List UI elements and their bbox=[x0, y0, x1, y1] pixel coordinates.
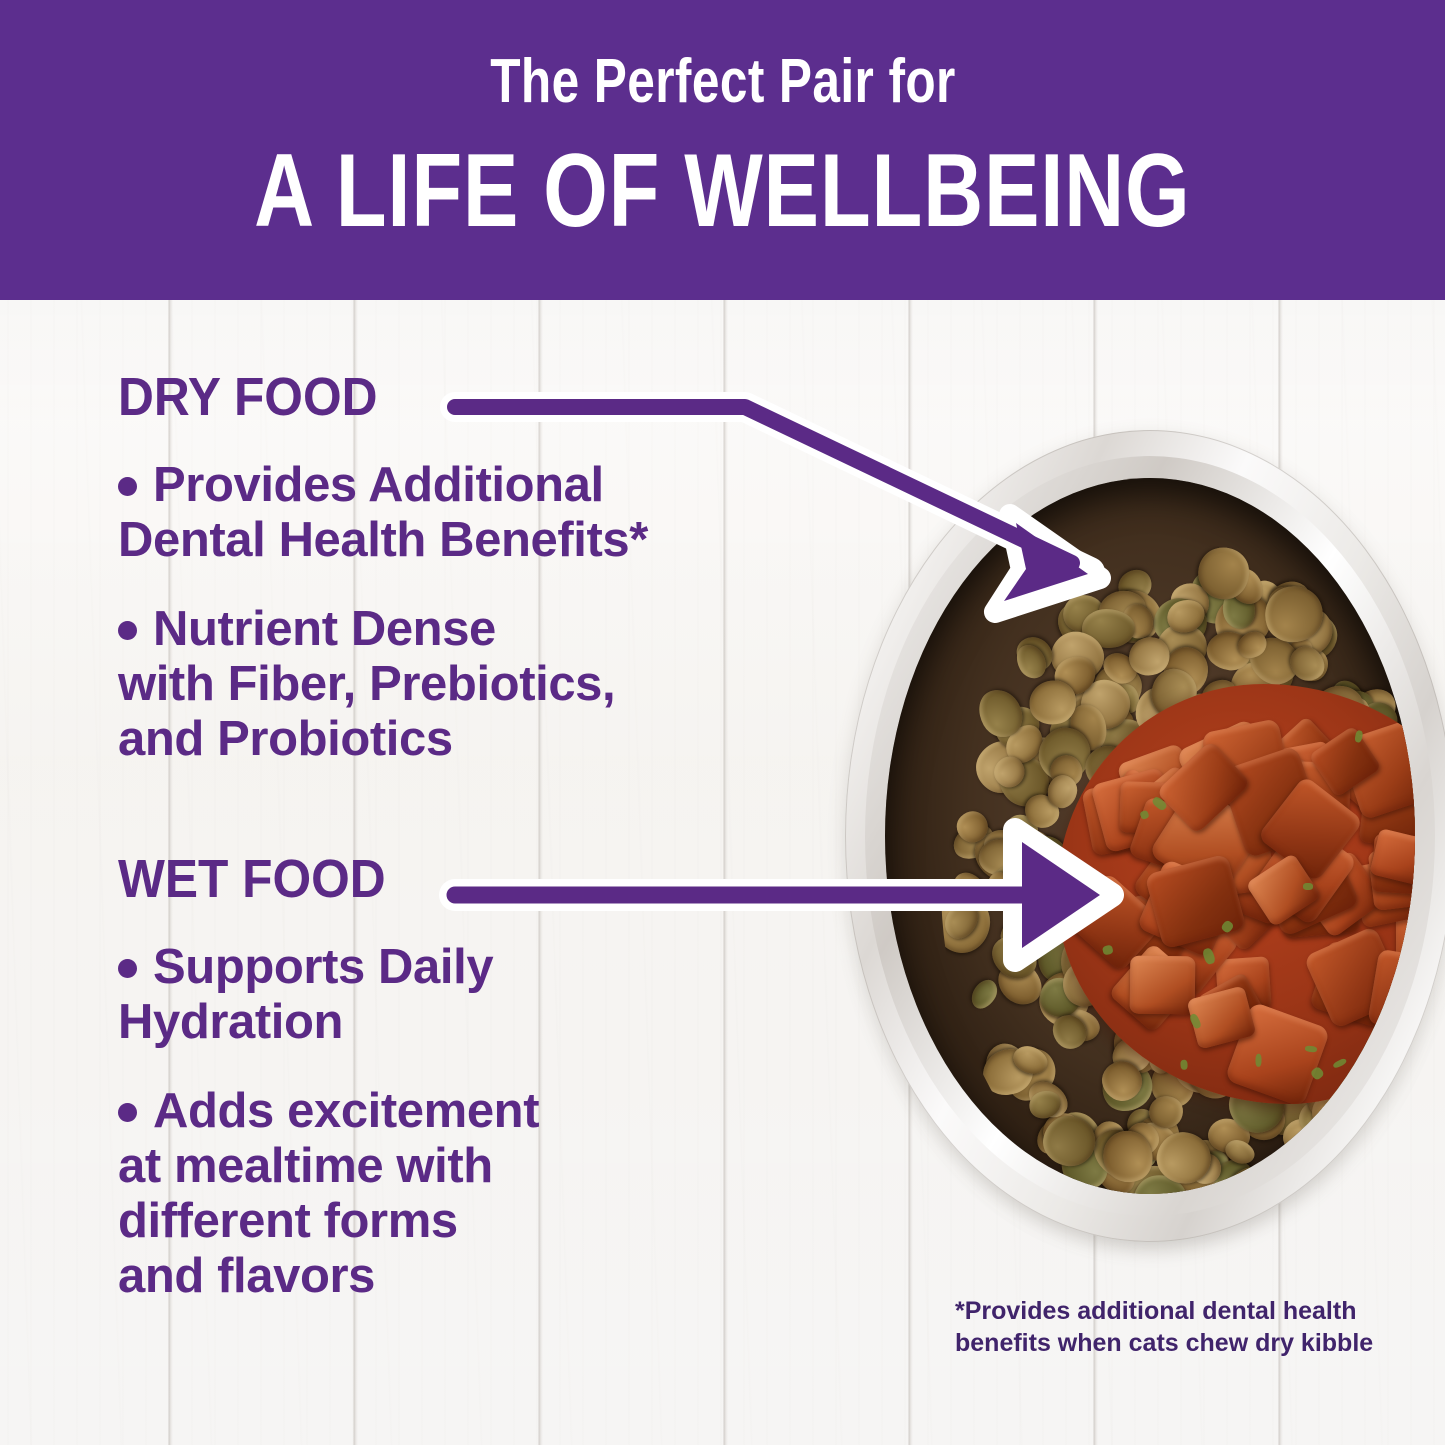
herb-fleck bbox=[1180, 1060, 1188, 1070]
wet-food-bullet-list: Supports Daily Hydration Adds excitement… bbox=[118, 940, 838, 1303]
bullet-dot-icon bbox=[118, 477, 137, 496]
bullet-dot-icon bbox=[118, 1103, 137, 1122]
bullet-dot-icon bbox=[118, 621, 137, 640]
footnote: *Provides additional dental health benef… bbox=[955, 1296, 1375, 1359]
bowl-interior bbox=[885, 478, 1415, 1194]
bullet-line: Supports Daily bbox=[153, 940, 493, 994]
bullet-line: Adds excitement bbox=[153, 1084, 539, 1138]
bullet-line: with Fiber, Prebiotics, bbox=[118, 657, 615, 711]
herb-fleck bbox=[1333, 1057, 1348, 1069]
section-spacer bbox=[118, 766, 838, 852]
bullet-line: Nutrient Dense bbox=[153, 602, 496, 656]
bullet-line: Provides Additional bbox=[153, 458, 604, 512]
list-item: Nutrient Dense with Fiber, Prebiotics, a… bbox=[118, 602, 838, 767]
dry-food-heading: DRY FOOD bbox=[118, 370, 780, 424]
kibble-piece bbox=[967, 975, 1003, 1013]
list-item: Supports Daily Hydration bbox=[118, 940, 838, 1050]
bullet-dot-icon bbox=[118, 959, 137, 978]
header-banner: The Perfect Pair for A LIFE OF WELLBEING bbox=[0, 0, 1445, 300]
bullet-line: at mealtime with bbox=[118, 1139, 493, 1193]
list-item: Adds excitement at mealtime with differe… bbox=[118, 1084, 838, 1304]
bullet-line: and Probiotics bbox=[118, 712, 453, 766]
herb-fleck bbox=[1303, 883, 1313, 890]
wet-food-chunk bbox=[1130, 956, 1196, 1015]
cat-food-bowl-photo bbox=[845, 430, 1445, 1260]
footnote-line-1: *Provides additional dental health bbox=[955, 1296, 1375, 1328]
bullet-line: Hydration bbox=[118, 995, 343, 1049]
benefits-copy-column: DRY FOOD Provides Additional Dental Heal… bbox=[118, 370, 838, 1304]
bullet-line: different forms bbox=[118, 1194, 458, 1248]
header-subtitle: The Perfect Pair for bbox=[490, 51, 956, 113]
dry-food-bullet-list: Provides Additional Dental Health Benefi… bbox=[118, 458, 838, 766]
header-title: A LIFE OF WELLBEING bbox=[254, 139, 1191, 243]
list-item: Provides Additional Dental Health Benefi… bbox=[118, 458, 838, 568]
wet-food-heading: WET FOOD bbox=[118, 852, 780, 906]
footnote-line-2: benefits when cats chew dry kibble bbox=[955, 1328, 1375, 1360]
herb-fleck bbox=[1255, 1054, 1262, 1067]
infographic-page: The Perfect Pair for A LIFE OF WELLBEING bbox=[0, 0, 1445, 1445]
bullet-line: Dental Health Benefits* bbox=[118, 513, 648, 567]
bullet-line: and flavors bbox=[118, 1249, 375, 1303]
